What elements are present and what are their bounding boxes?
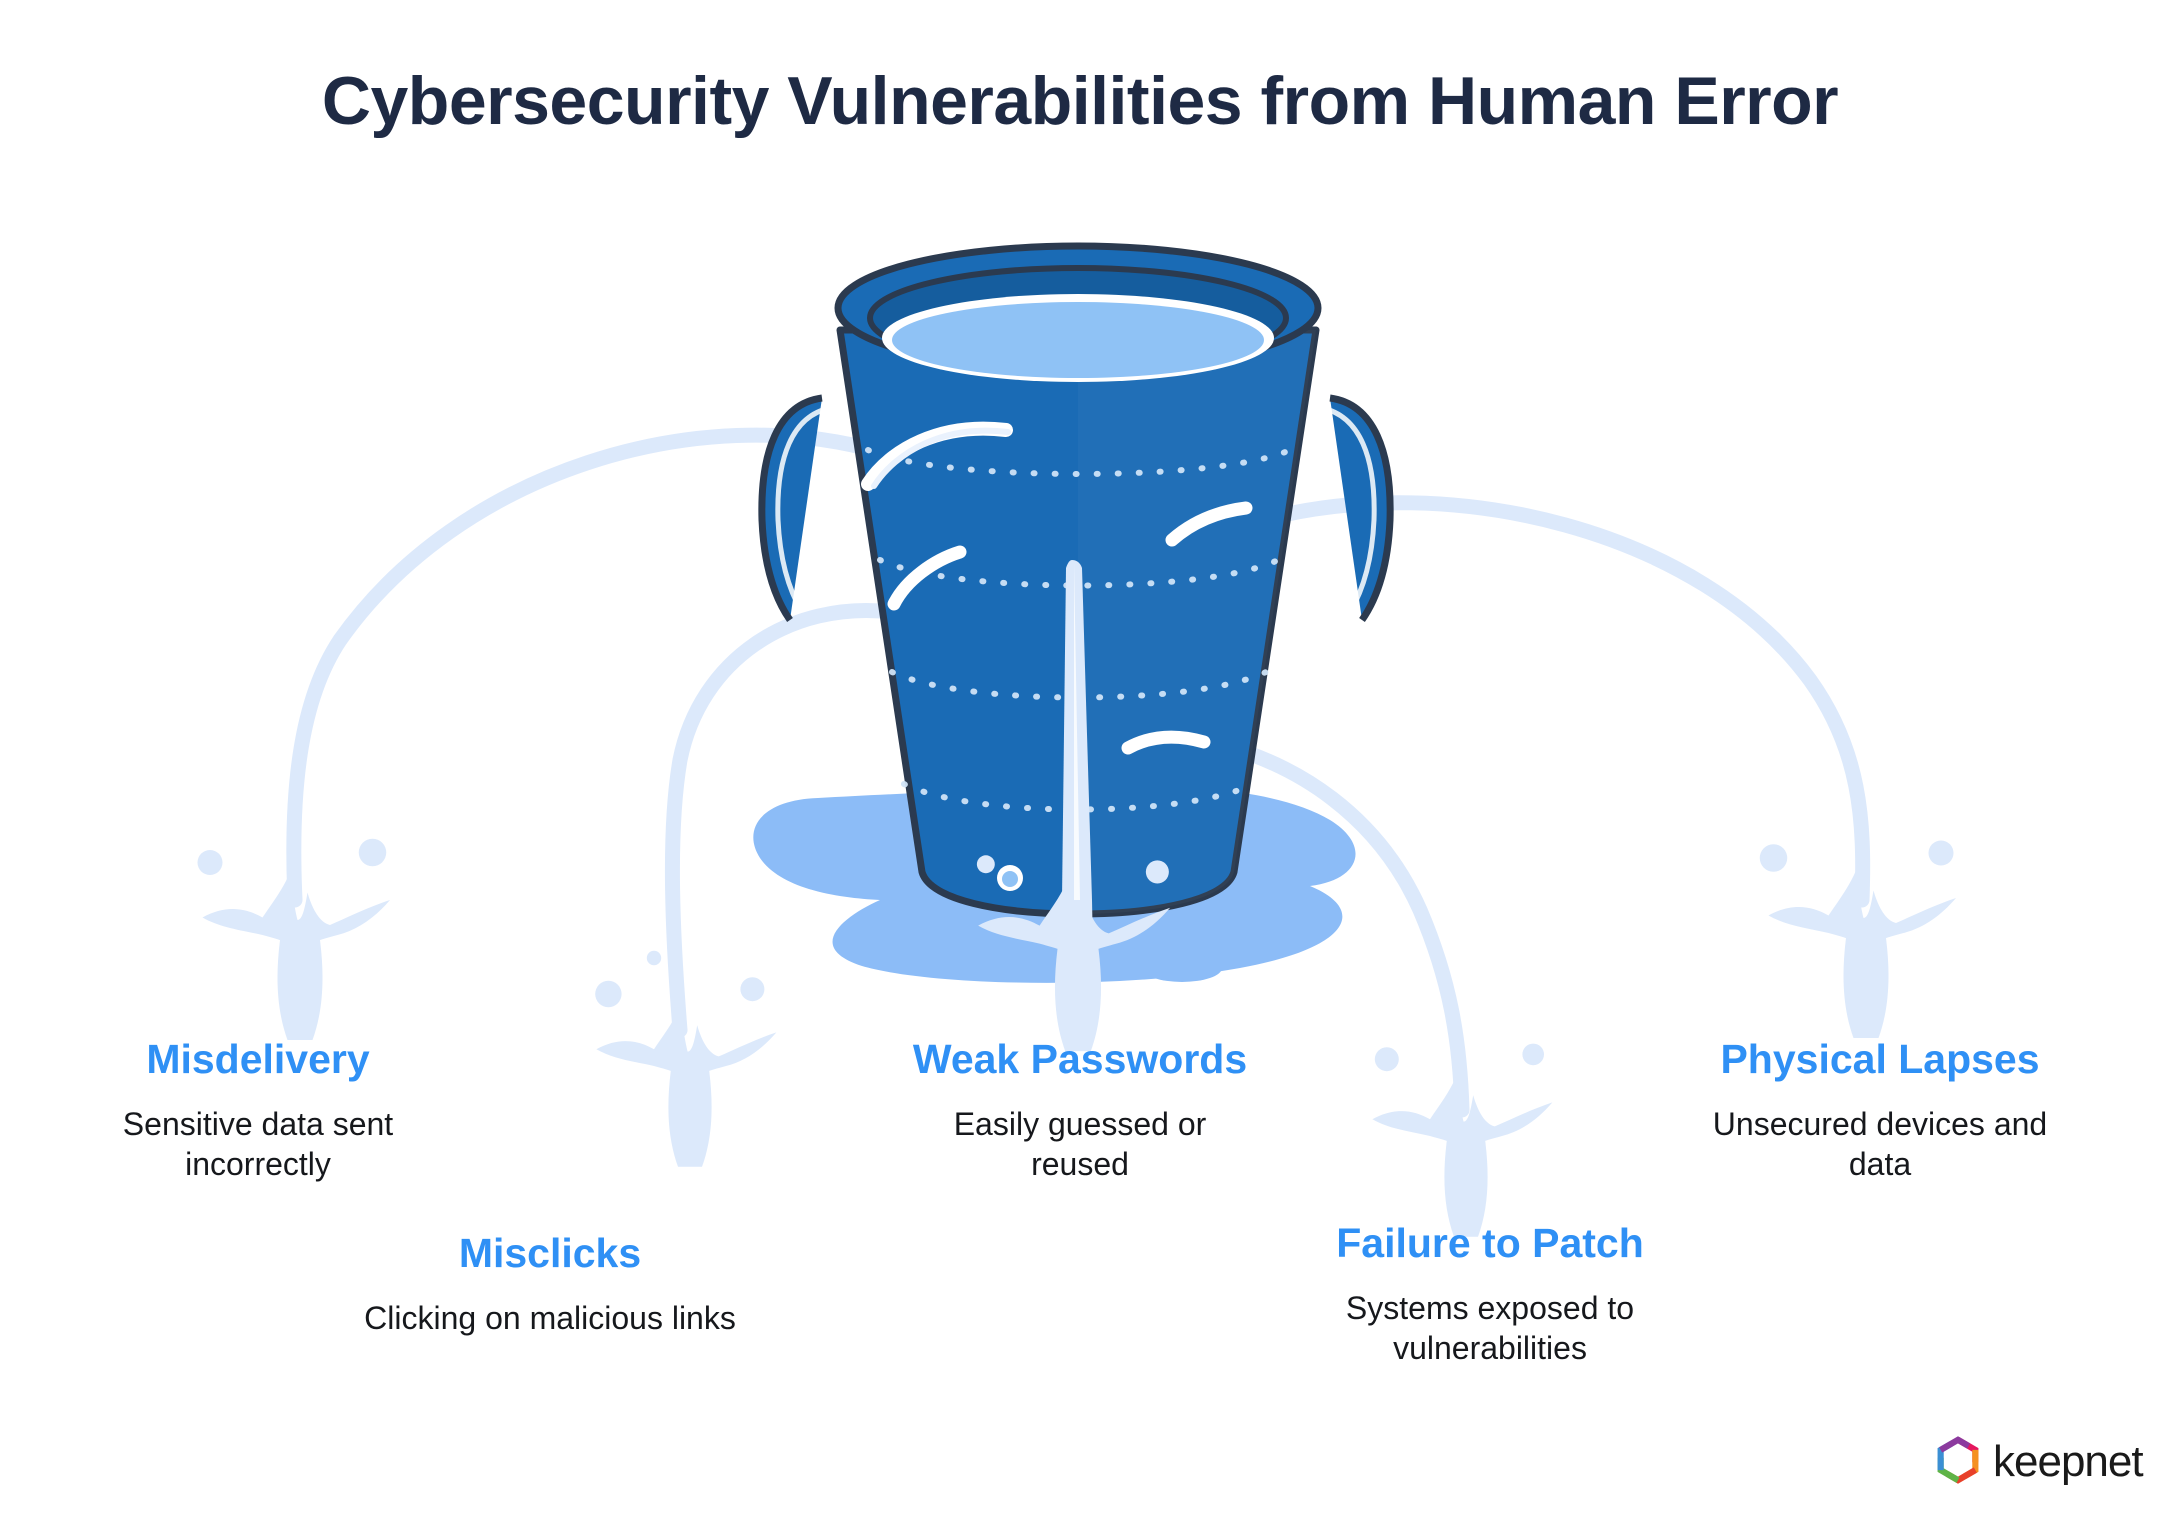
keepnet-logo: keepnet <box>1930 1432 2143 1488</box>
item-failure-to-patch-heading: Failure to Patch <box>1320 1218 1660 1268</box>
keepnet-wordmark: keepnet <box>1993 1440 2143 1484</box>
item-misclicks-description: Clicking on malicious links <box>360 1278 740 1338</box>
splash-misclicks <box>595 951 776 1167</box>
item-failure-to-patch: Failure to Patch Systems exposed to vuln… <box>1320 1218 1660 1369</box>
item-misclicks-heading: Misclicks <box>360 1228 740 1278</box>
item-weak-passwords-description: Easily guessed or reused <box>905 1084 1255 1185</box>
item-physical-lapses-description: Unsecured devices and data <box>1690 1084 2070 1185</box>
item-physical-lapses-heading: Physical Lapses <box>1690 1034 2070 1084</box>
infographic-canvas: Cybersecurity Vulnerabilities from Human… <box>0 0 2160 1526</box>
item-misdelivery-description: Sensitive data sent incorrectly <box>68 1084 448 1185</box>
item-misdelivery: Misdelivery Sensitive data sent incorrec… <box>68 1034 448 1185</box>
item-physical-lapses: Physical Lapses Unsecured devices and da… <box>1690 1034 2070 1185</box>
item-weak-passwords: Weak Passwords Easily guessed or reused <box>905 1034 1255 1185</box>
item-misdelivery-heading: Misdelivery <box>68 1034 448 1084</box>
item-weak-passwords-heading: Weak Passwords <box>905 1034 1255 1084</box>
item-failure-to-patch-description: Systems exposed to vulnerabilities <box>1320 1268 1660 1369</box>
page-title: Cybersecurity Vulnerabilities from Human… <box>0 62 2160 140</box>
keepnet-pinwheel-icon <box>1930 1432 1986 1488</box>
item-misclicks: Misclicks Clicking on malicious links <box>360 1228 740 1338</box>
leaking-bucket-illustration <box>0 0 2160 1526</box>
